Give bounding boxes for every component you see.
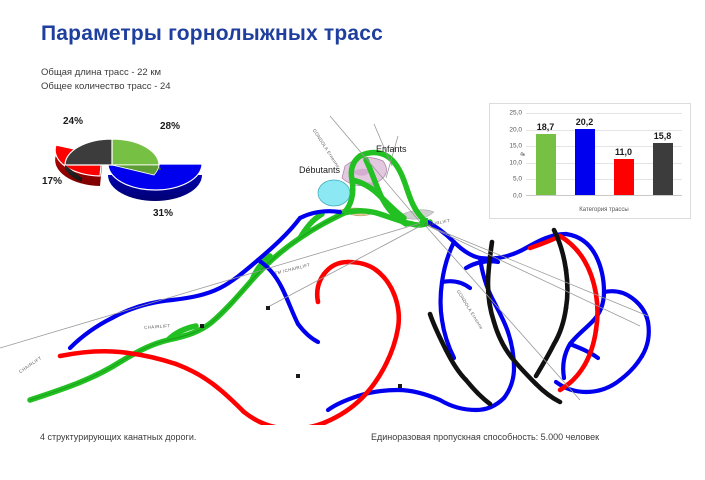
slide-root: Параметры горнолыжных трасс Общая длина … [0, 0, 705, 480]
lift-cables [0, 116, 648, 400]
green-pistes [30, 153, 430, 400]
footer-note-lifts: 4 структурирующих канатных дороги. [40, 432, 196, 442]
ski-trail-map: Débutants Enfants GONDOLA Ernenne CHAIRL… [0, 100, 705, 425]
red-pistes [60, 236, 598, 425]
lake-shape [318, 180, 350, 206]
subtitle-line-length: Общая длина трасс - 22 км [41, 66, 171, 80]
map-label-debutants: Débutants [299, 165, 340, 175]
page-title: Параметры горнолыжных трасс [41, 22, 383, 46]
map-label-enfants: Enfants [376, 144, 407, 154]
footer-note-capacity: Единоразовая пропускная способность: 5.0… [371, 432, 599, 442]
ski-map-svg [0, 100, 705, 425]
subtitle-line-count: Общее количество трасс - 24 [41, 80, 171, 94]
subtitle-block: Общая длина трасс - 22 км Общее количест… [41, 66, 171, 93]
